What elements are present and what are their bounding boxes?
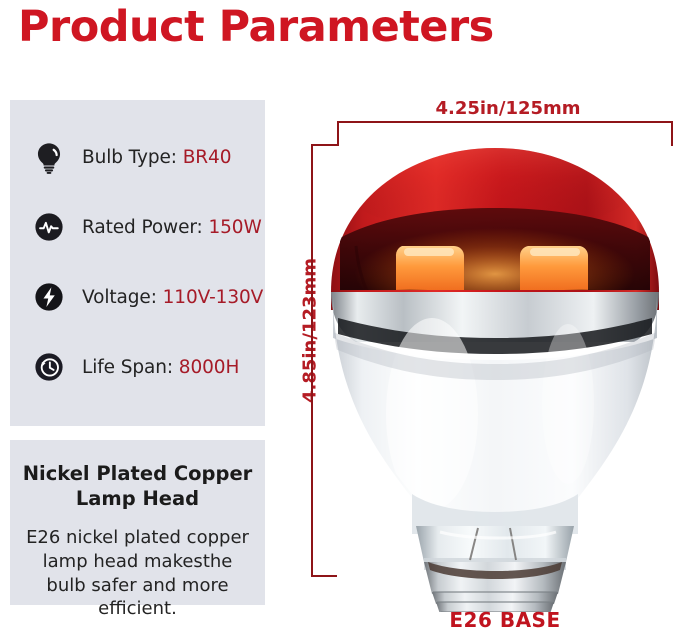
spec-value: BR40 [183,147,232,168]
spec-value: 8000H [179,357,240,378]
spec-value: 110V-130V [163,287,264,308]
spec-text-life-span: Life Span: 8000H [82,357,239,378]
e26-screw-base [424,562,566,612]
spec-row-life-span: Life Span: 8000H [10,332,265,402]
spec-label: Rated Power: [82,217,208,238]
spec-text-voltage: Voltage: 110V-130V [82,287,263,308]
spec-text-rated-power: Rated Power: 150W [82,217,262,238]
feature-body: E26 nickel plated copper lamp head makes… [10,526,265,621]
spec-panel: Bulb Type: BR40 Rated Power: 150W Voltag… [10,100,265,426]
clock-icon [32,350,66,384]
bulb-illustration [320,142,670,612]
spec-row-voltage: Voltage: 110V-130V [10,262,265,332]
bolt-icon [32,280,66,314]
bulb-icon [32,140,66,174]
feature-title: Nickel Plated Copper Lamp Head [10,462,265,512]
spec-value: 150W [208,217,261,238]
spec-row-rated-power: Rated Power: 150W [10,192,265,262]
spec-text-bulb-type: Bulb Type: BR40 [82,147,231,168]
spec-label: Voltage: [82,287,163,308]
spec-row-bulb-type: Bulb Type: BR40 [10,122,265,192]
spec-label: Bulb Type: [82,147,183,168]
base-type-label: E26 BASE [410,608,600,632]
page-title: Product Parameters [18,2,494,52]
spec-label: Life Span: [82,357,179,378]
product-image-area: 4.25in/125mm 4.85in/123mm [280,90,679,644]
bulb-chrome-band [331,292,659,354]
feature-panel: Nickel Plated Copper Lamp Head E26 nicke… [10,440,265,605]
pulse-icon [32,210,66,244]
